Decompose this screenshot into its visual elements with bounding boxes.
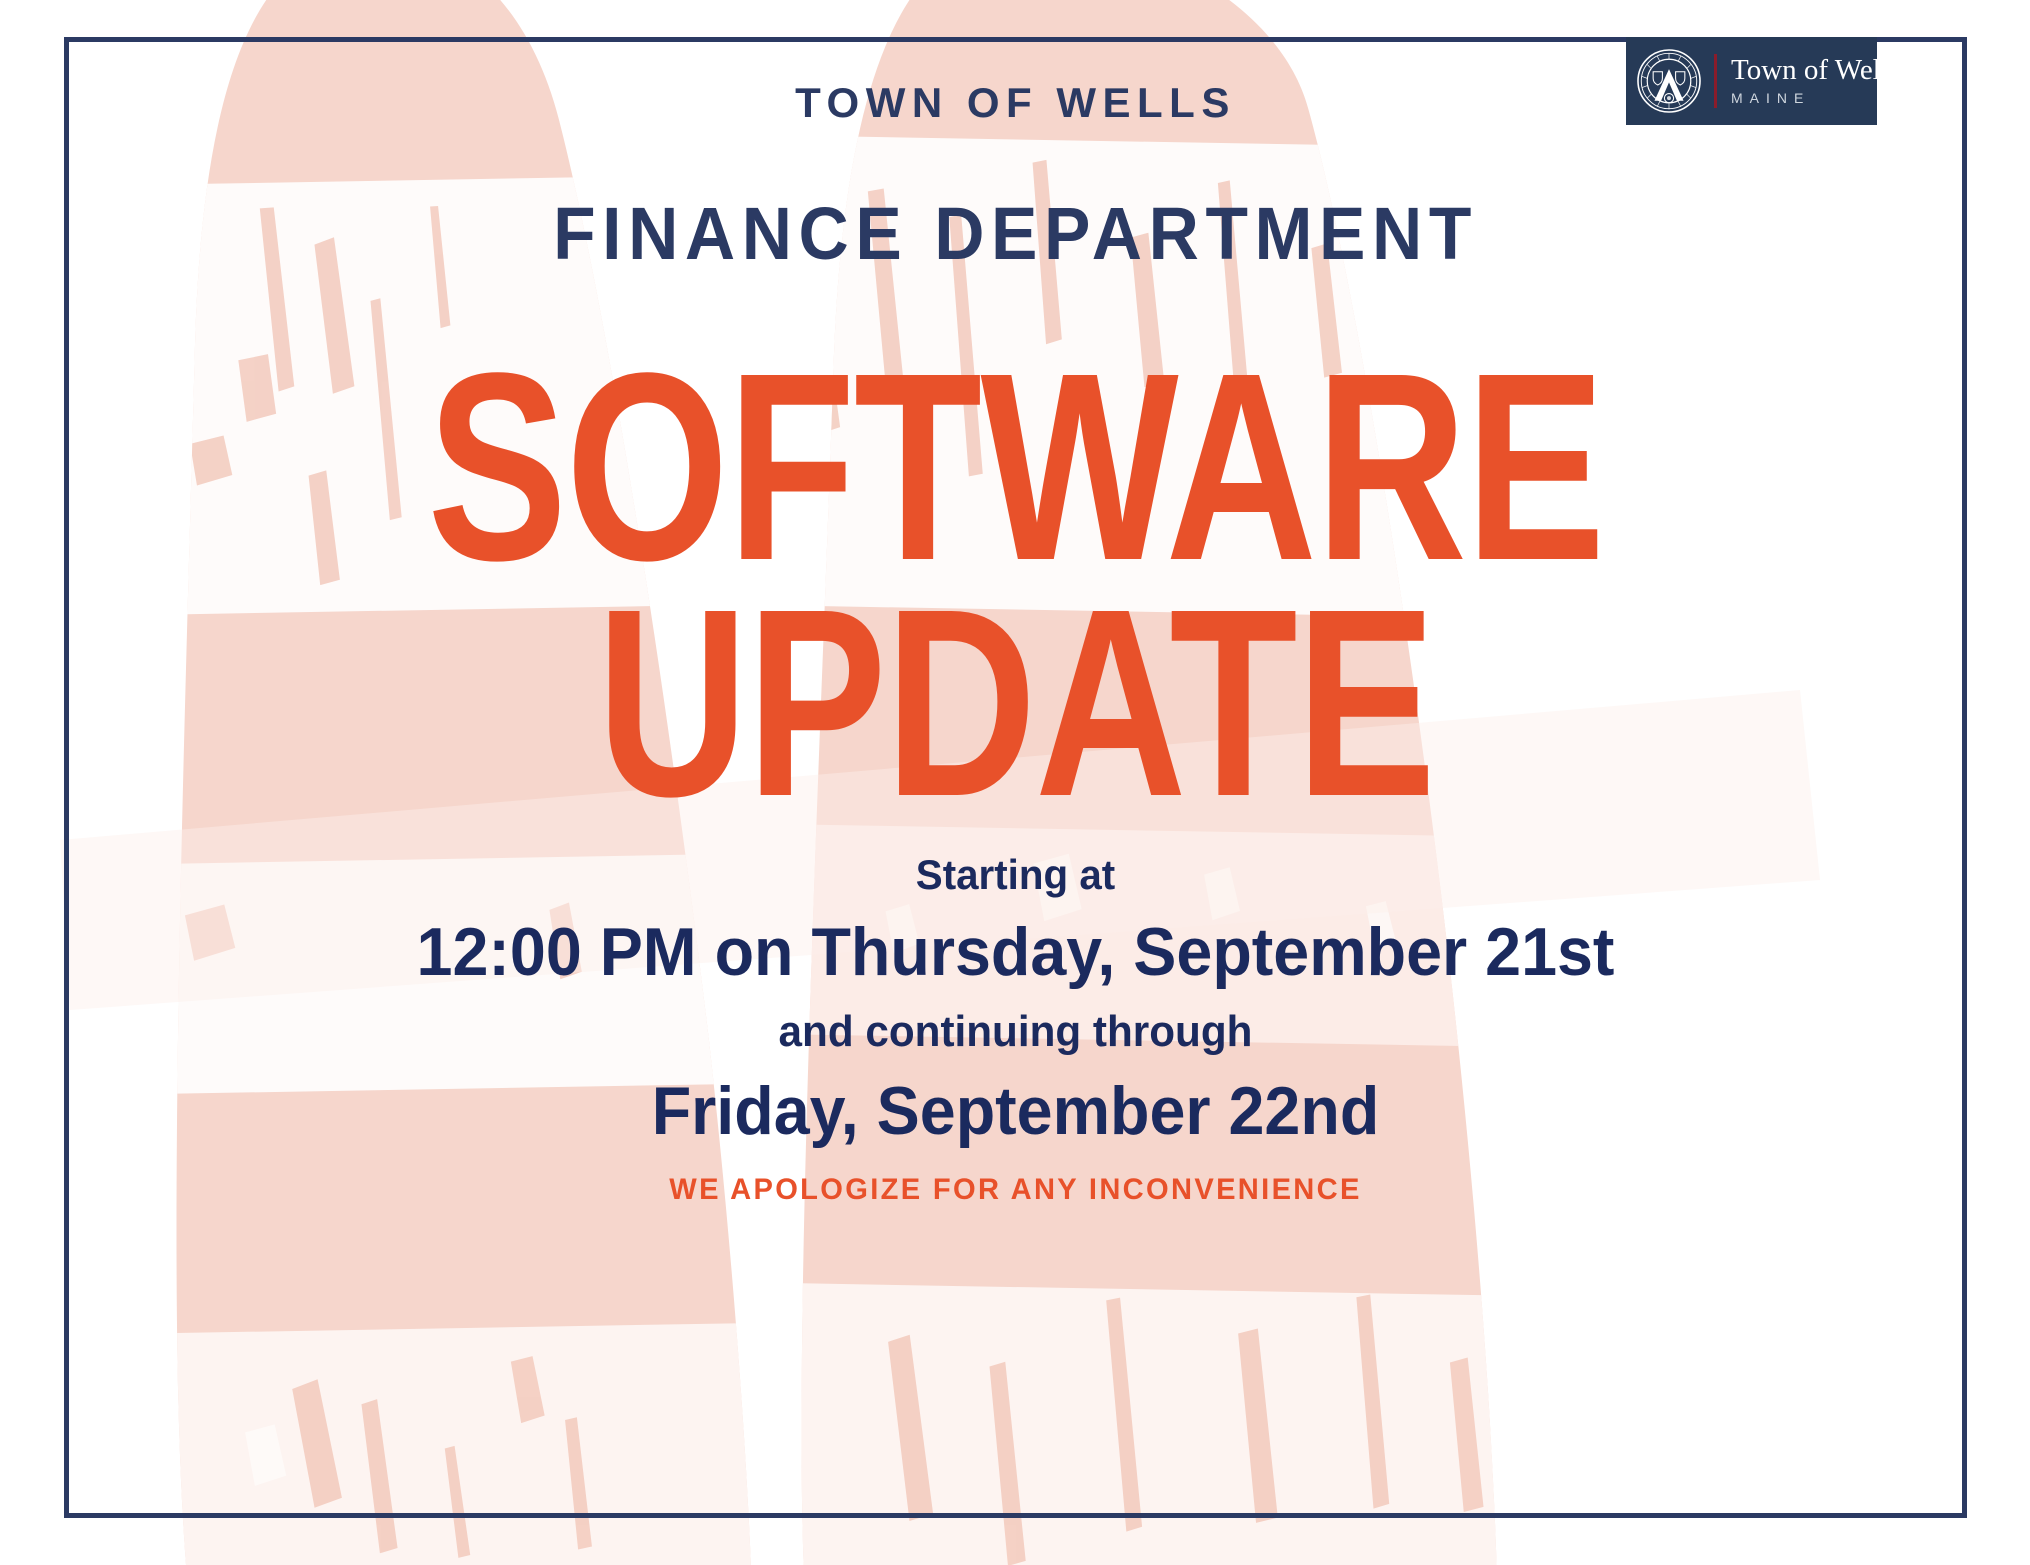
headline: SOFTWARE UPDATE [64, 357, 1967, 813]
schedule-continuing-label: and continuing through [102, 1008, 1929, 1056]
apology-note: WE APOLOGIZE FOR ANY INCONVENIENCE [93, 1173, 1939, 1206]
logo-subtitle: MAINE [1731, 89, 1900, 107]
poster-content: TOWN OF WELLS [64, 37, 1967, 1518]
department-title: FINANCE DEPARTMENT [121, 197, 1910, 271]
schedule-start-datetime: 12:00 PM on Thursday, September 21st [112, 914, 1920, 990]
town-of-wells-logo: Town of Wells MAINE [1626, 37, 1877, 125]
schedule-block: Starting at 12:00 PM on Thursday, Septem… [64, 852, 1967, 1206]
headline-line-1: SOFTWARE [216, 349, 1815, 584]
logo-title: Town of Wells [1731, 55, 1900, 85]
schedule-end-date: Friday, September 22nd [112, 1073, 1920, 1149]
poster: TOWN OF WELLS [0, 0, 2030, 1565]
headline-line-2: UPDATE [216, 585, 1815, 820]
logo-wordmark: Town of Wells MAINE [1731, 55, 1900, 107]
schedule-starting-label: Starting at [102, 852, 1929, 898]
logo-divider [1714, 54, 1717, 108]
town-seal-icon [1636, 48, 1702, 114]
